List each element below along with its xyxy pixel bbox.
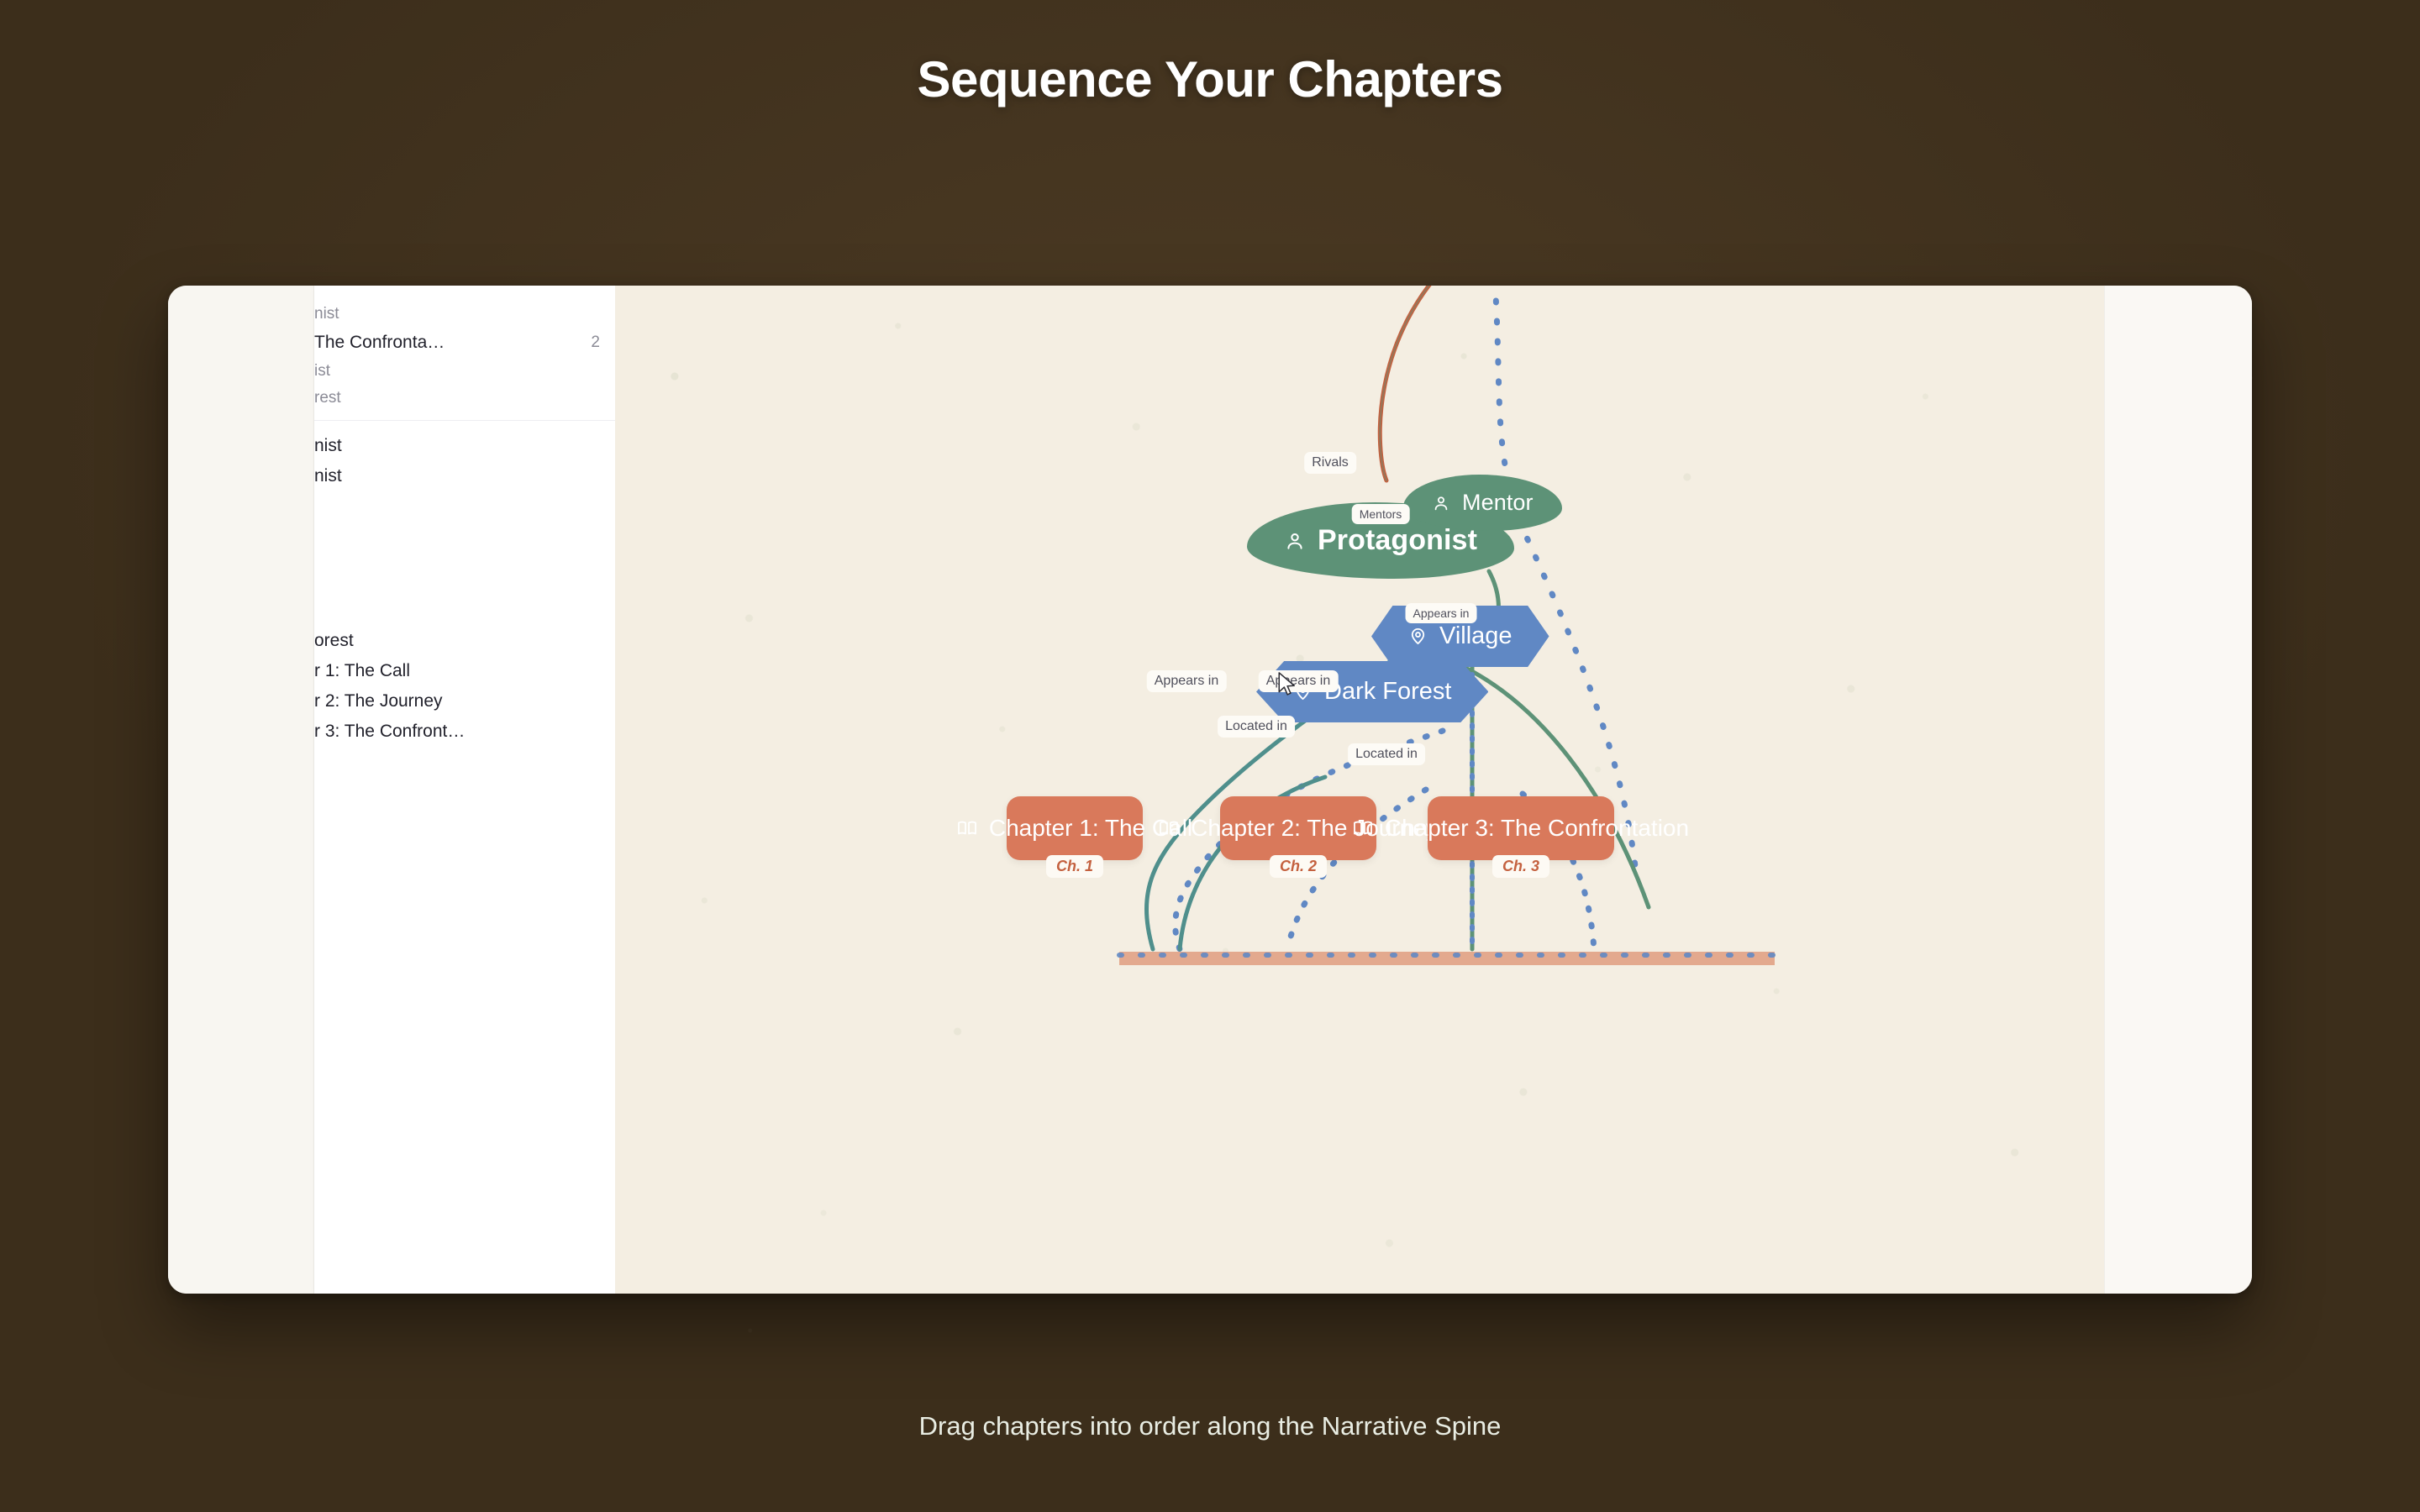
- book-icon: [1353, 818, 1373, 838]
- list-item[interactable]: rest: [314, 385, 615, 412]
- list-section: nist nist: [314, 421, 615, 500]
- chapter-badge: Ch. 1: [1046, 855, 1103, 878]
- list-item-label: r 3: The Confront…: [314, 722, 465, 742]
- node-label: Dark Forest: [1324, 678, 1451, 706]
- edge-label-mentors: Mentors: [1352, 504, 1410, 524]
- book-icon: [1159, 818, 1179, 838]
- right-inspector-panel: [2104, 286, 2252, 1294]
- chapter-badge: Ch. 3: [1492, 855, 1549, 878]
- list-item-chapter-2[interactable]: r 2: The Journey: [314, 686, 615, 717]
- person-icon: [1432, 494, 1450, 512]
- edge-label-appears-in-forest: Appears in: [1259, 670, 1339, 692]
- list-item[interactable]: ist: [314, 358, 615, 385]
- app-window: nist The Confronta… 2 ist rest: [168, 286, 2252, 1294]
- edge-label-appears-in-left: Appears in: [1147, 670, 1227, 692]
- list-item[interactable]: nist: [314, 301, 615, 328]
- list-item-label: rest: [314, 389, 341, 407]
- edge-label-located-in-right: Located in: [1348, 743, 1425, 765]
- list-item-label: nist: [314, 466, 342, 486]
- node-label: Chapter 3: The Confrontation: [1385, 815, 1689, 842]
- list-spacer: [314, 500, 615, 626]
- person-icon: [1284, 530, 1306, 552]
- entity-list-popup[interactable]: nist The Confronta… 2 ist rest: [314, 286, 615, 1294]
- slide-root: Sequence Your Chapters nist The Confront…: [0, 0, 2420, 1512]
- list-item-label: orest: [314, 631, 354, 651]
- node-chapter-1[interactable]: Chapter 1: The Call Ch. 1: [1007, 796, 1143, 860]
- book-icon: [957, 818, 977, 838]
- node-chapter-3[interactable]: Chapter 3: The Confrontation Ch. 3: [1428, 796, 1614, 860]
- edge-label-rivals: Rivals: [1304, 452, 1356, 474]
- graph-edges: [615, 286, 2104, 1294]
- list-item-label: r 1: The Call: [314, 661, 410, 681]
- list-item-label: nist: [314, 305, 339, 323]
- node-label: Mentor: [1462, 490, 1534, 516]
- node-label: Village: [1439, 622, 1512, 650]
- graph-canvas[interactable]: Protagonist Mentor: [615, 286, 2104, 1294]
- list-item[interactable]: nist: [314, 461, 615, 491]
- map-pin-icon: [1408, 627, 1428, 646]
- list-item-chapter-1[interactable]: r 1: The Call: [314, 656, 615, 686]
- edge-label-located-in-left: Located in: [1218, 716, 1295, 738]
- edge-label-appears-in-village: Appears in: [1406, 603, 1477, 623]
- page-title: Sequence Your Chapters: [0, 50, 2420, 108]
- list-item[interactable]: orest: [314, 626, 615, 656]
- list-section: orest r 1: The Call r 2: The Journey r 3…: [314, 626, 615, 755]
- list-item[interactable]: nist: [314, 431, 615, 461]
- list-item-label: ist: [314, 362, 330, 381]
- list-item-label: The Confronta…: [314, 333, 445, 353]
- list-item-chapter-3[interactable]: r 3: The Confront…: [314, 717, 615, 747]
- list-item-label: r 2: The Journey: [314, 691, 443, 711]
- list-item-label: nist: [314, 436, 342, 456]
- list-section: nist The Confronta… 2 ist rest: [314, 286, 615, 421]
- node-mentor[interactable]: Mentor: [1403, 475, 1562, 531]
- left-rail: [168, 286, 314, 1294]
- slide-caption: Drag chapters into order along the Narra…: [0, 1411, 2420, 1441]
- list-item[interactable]: The Confronta… 2: [314, 328, 615, 358]
- chapter-badge: Ch. 2: [1270, 855, 1327, 878]
- list-item-count: 2: [591, 333, 600, 352]
